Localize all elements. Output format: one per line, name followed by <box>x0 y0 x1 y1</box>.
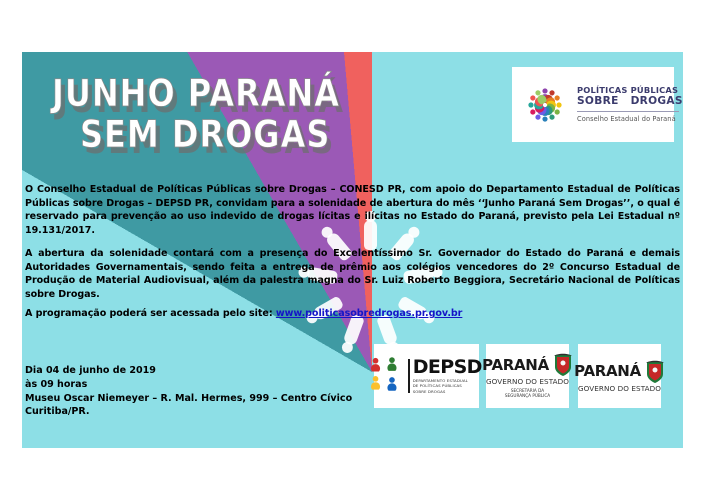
paragraph-ceremony: A abertura da solenidade contará com a p… <box>25 247 680 301</box>
conesd-pinwheel-icon <box>519 79 571 131</box>
website-prefix-text: A programação poderá ser acessada pelo s… <box>25 308 276 319</box>
parana-crest-icon <box>553 353 573 377</box>
paragraph-invitation: O Conselho Estadual de Políticas Pública… <box>25 183 680 237</box>
conesd-logo-text: POLÍTICAS PÚBLICAS SOBRE DROGAS Conselho… <box>577 86 683 123</box>
parana-crest-icon <box>645 360 665 384</box>
paragraph-website: A programação poderá ser acessada pelo s… <box>25 307 680 321</box>
conesd-title-line-2: SOBRE DROGAS <box>577 95 683 108</box>
parana-seguranca-row: PARANÁ <box>482 353 573 377</box>
headline-line-1: JUNHO PARANÁ <box>52 74 460 112</box>
depsd-people-icon <box>371 356 405 396</box>
depsd-text: DEPSD DEPARTAMENTO ESTADUAL DE POLÍTICAS… <box>413 358 482 393</box>
parana-estado-word: PARANÁ <box>574 364 641 379</box>
conesd-subtitle: Conselho Estadual do Paraná <box>577 115 683 123</box>
parana-seguranca-logo: PARANÁ GOVERNO DO ESTADO SECRETARIA DA S… <box>486 344 569 408</box>
parana-estado-inner: PARANÁ GOVERNO DO ESTADO <box>574 360 665 393</box>
conesd-logo: POLÍTICAS PÚBLICAS SOBRE DROGAS Conselho… <box>512 67 674 142</box>
parana-seguranca-gov: GOVERNO DO ESTADO <box>482 378 573 386</box>
poster-canvas: JUNHO PARANÁ SEM DROGAS POLÍTICAS PÚBLIC… <box>22 52 683 448</box>
website-link[interactable]: www.politicasobredrogas.pr.gov.br <box>276 308 462 319</box>
parana-estado-row: PARANÁ <box>574 360 665 384</box>
headline-line-2: SEM DROGAS <box>80 115 460 153</box>
parana-seguranca-inner: PARANÁ GOVERNO DO ESTADO SECRETARIA DA S… <box>482 353 573 398</box>
poster-headline: JUNHO PARANÁ SEM DROGAS <box>40 74 460 147</box>
poster-page: JUNHO PARANÁ SEM DROGAS POLÍTICAS PÚBLIC… <box>0 0 707 500</box>
conesd-title-line-1: POLÍTICAS PÚBLICAS <box>577 86 683 96</box>
parana-estado-gov: GOVERNO DO ESTADO <box>574 385 665 393</box>
conesd-divider <box>577 111 679 112</box>
depsd-subtitle: DEPARTAMENTO ESTADUAL DE POLÍTICAS PÚBLI… <box>413 378 482 393</box>
parana-seguranca-subtitle: SECRETARIA DA SEGURANÇA PÚBLICA <box>482 388 573 399</box>
parana-seguranca-word: PARANÁ <box>482 358 549 373</box>
depsd-title: DEPSD <box>413 358 482 377</box>
depsd-logo-inner: DEPSD DEPARTAMENTO ESTADUAL DE POLÍTICAS… <box>367 356 486 396</box>
depsd-divider <box>408 359 410 393</box>
depsd-logo: DEPSD DEPARTAMENTO ESTADUAL DE POLÍTICAS… <box>374 344 479 408</box>
parana-estado-logo: PARANÁ GOVERNO DO ESTADO <box>578 344 661 408</box>
